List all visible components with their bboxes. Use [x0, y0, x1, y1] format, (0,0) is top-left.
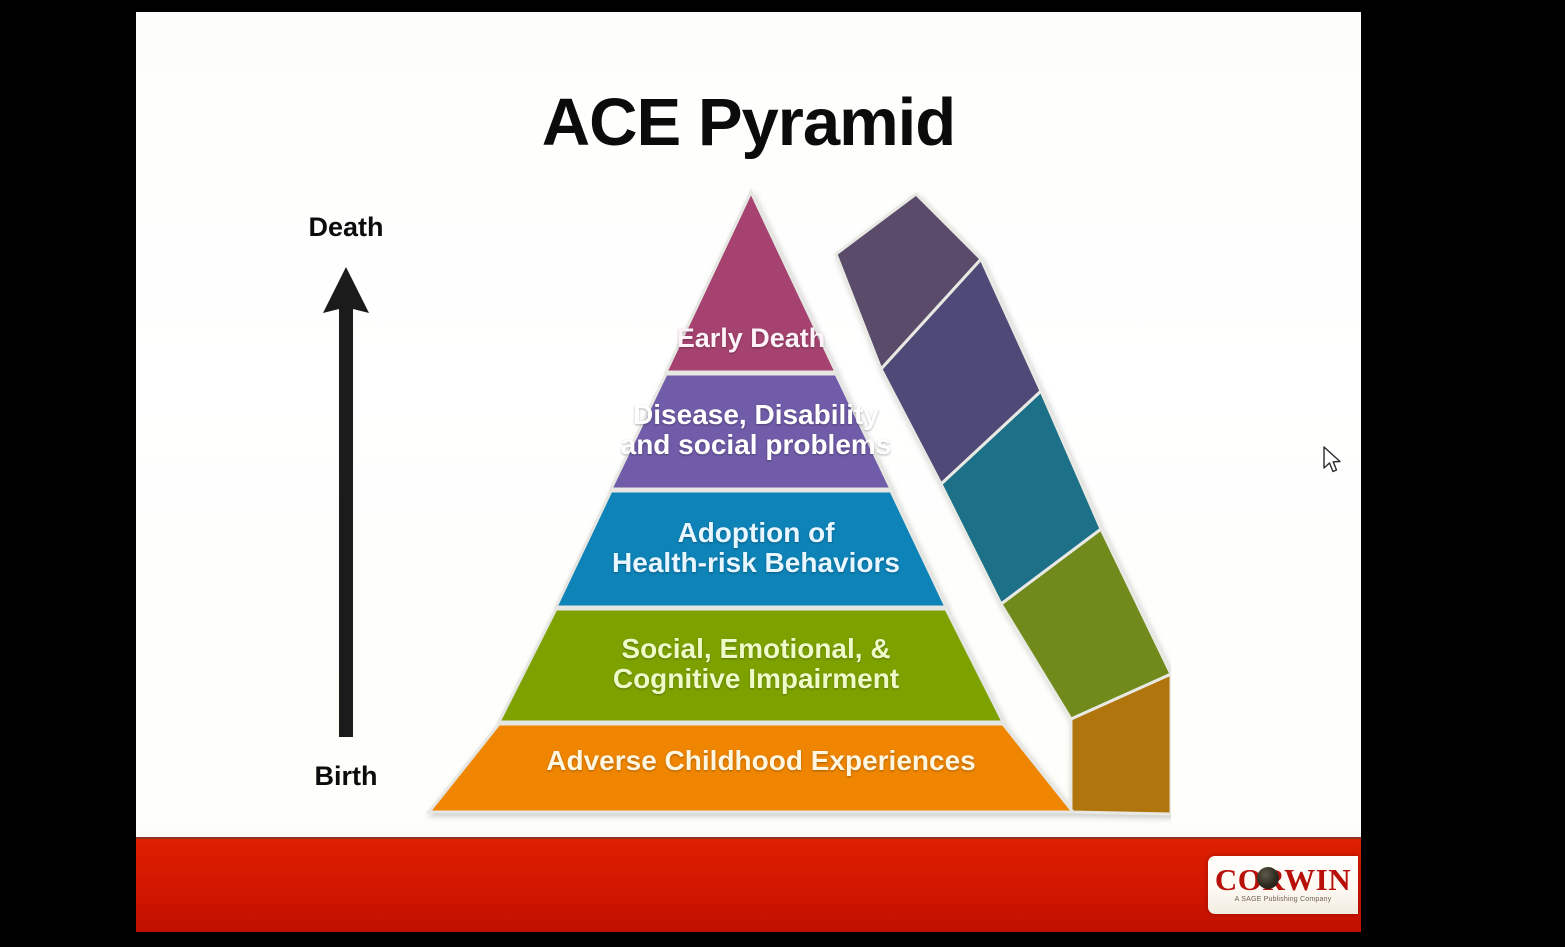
slide-footer-bar: CORWIN A SAGE Publishing Company — [136, 837, 1361, 932]
pyramid-level-disease-disability — [611, 374, 891, 489]
ace-pyramid-graphic: Early Death Disease, Disability and soci… — [381, 184, 1171, 824]
arrow-up-icon — [322, 267, 370, 737]
corwin-tagline: A SAGE Publishing Company — [1208, 896, 1358, 903]
screen-root: ACE Pyramid Death Birth — [0, 0, 1565, 947]
pyramid-level-adverse-childhood-experiences — [429, 724, 1073, 812]
presentation-slide: ACE Pyramid Death Birth — [136, 12, 1361, 932]
corwin-globe-icon — [1257, 867, 1279, 889]
page-title: ACE Pyramid — [136, 84, 1361, 161]
pyramid-level-early-death — [666, 192, 836, 372]
corwin-logo: CORWIN A SAGE Publishing Company — [1208, 856, 1358, 914]
corwin-wordmark: CORWIN — [1208, 862, 1358, 898]
pyramid-level-cognitive-impairment — [499, 609, 1003, 722]
pyramid-level-health-risk-behaviors — [556, 491, 946, 607]
